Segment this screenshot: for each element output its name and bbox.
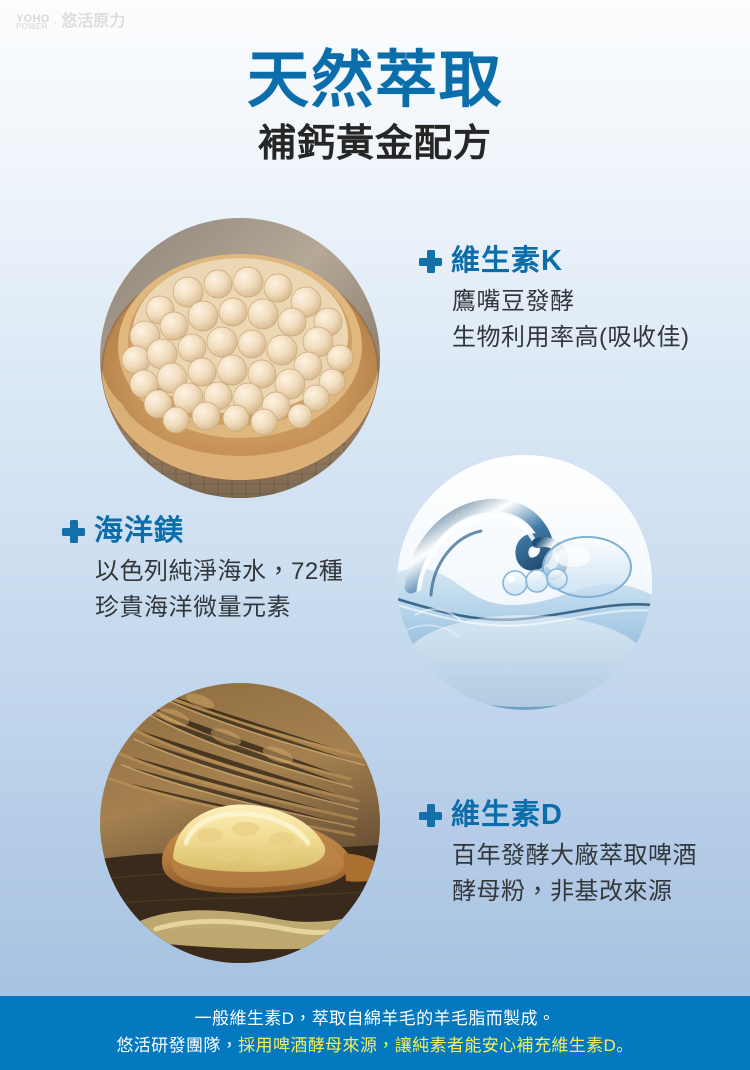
yeast-powder-photo xyxy=(100,683,380,963)
feature-vitamin-d-line2: 酵母粉，非基改來源 xyxy=(452,874,697,910)
footer-line-2: 悠活研發團隊，採用啤酒酵母來源，讓純素者能安心補充維生素D。 xyxy=(116,1035,633,1058)
promo-poster: YOHO POWER · 悠活原力 天然萃取 補鈣黃金配方 xyxy=(0,0,750,1070)
feature-marine-magnesium-line2: 珍貴海洋微量元素 xyxy=(95,590,343,626)
feature-vitamin-d-body: 百年發酵大廠萃取啤酒 酵母粉，非基改來源 xyxy=(419,838,697,910)
feature-vitamin-k-title: 維生素K xyxy=(451,246,563,278)
footer-line-2-white: 悠活研發團隊， xyxy=(116,1036,238,1055)
feature-vitamin-k-line2: 生物利用率高(吸收佳) xyxy=(452,320,689,356)
feature-marine-magnesium: 海洋鎂 以色列純淨海水，72種 珍貴海洋微量元素 xyxy=(62,516,343,626)
footer-line-2-highlight: 採用啤酒酵母來源，讓純素者能安心補充維生素D。 xyxy=(238,1036,633,1055)
feature-vitamin-d-title: 維生素D xyxy=(451,800,563,832)
logo-chinese: 悠活原力 xyxy=(61,14,125,30)
headline-sub: 補鈣黃金配方 xyxy=(0,121,750,169)
feature-marine-magnesium-body: 以色列純淨海水，72種 珍貴海洋微量元素 xyxy=(62,554,343,626)
plus-icon xyxy=(62,520,85,543)
feature-vitamin-d-line1: 百年發酵大廠萃取啤酒 xyxy=(452,838,697,874)
footer-line-1: 一般維生素D，萃取自綿羊毛的羊毛脂而製成。 xyxy=(195,1008,556,1031)
feature-vitamin-k: 維生素K 鷹嘴豆發酵 生物利用率高(吸收佳) xyxy=(419,246,689,356)
feature-marine-magnesium-heading: 海洋鎂 xyxy=(62,516,343,548)
plus-icon xyxy=(419,804,442,827)
feature-marine-magnesium-title: 海洋鎂 xyxy=(94,516,184,548)
footer-note-bar: 一般維生素D，萃取自綿羊毛的羊毛脂而製成。 悠活研發團隊，採用啤酒酵母來源，讓純… xyxy=(0,996,750,1070)
headline-main: 天然萃取 xyxy=(0,48,750,115)
plus-icon xyxy=(419,250,442,273)
water-splash-photo xyxy=(397,455,652,710)
feature-vitamin-k-body: 鷹嘴豆發酵 生物利用率高(吸收佳) xyxy=(419,284,689,356)
chickpeas-photo xyxy=(100,218,380,498)
brand-logo: YOHO POWER · 悠活原力 xyxy=(16,14,125,30)
logo-latin: YOHO POWER xyxy=(16,15,50,30)
feature-vitamin-k-line1: 鷹嘴豆發酵 xyxy=(452,284,689,320)
feature-vitamin-d-heading: 維生素D xyxy=(419,800,697,832)
logo-dot: · xyxy=(54,17,58,30)
feature-vitamin-d: 維生素D 百年發酵大廠萃取啤酒 酵母粉，非基改來源 xyxy=(419,800,697,910)
headline-block: 天然萃取 補鈣黃金配方 xyxy=(0,48,750,168)
feature-vitamin-k-heading: 維生素K xyxy=(419,246,689,278)
logo-line2: POWER xyxy=(16,24,50,30)
feature-marine-magnesium-line1: 以色列純淨海水，72種 xyxy=(95,554,343,590)
